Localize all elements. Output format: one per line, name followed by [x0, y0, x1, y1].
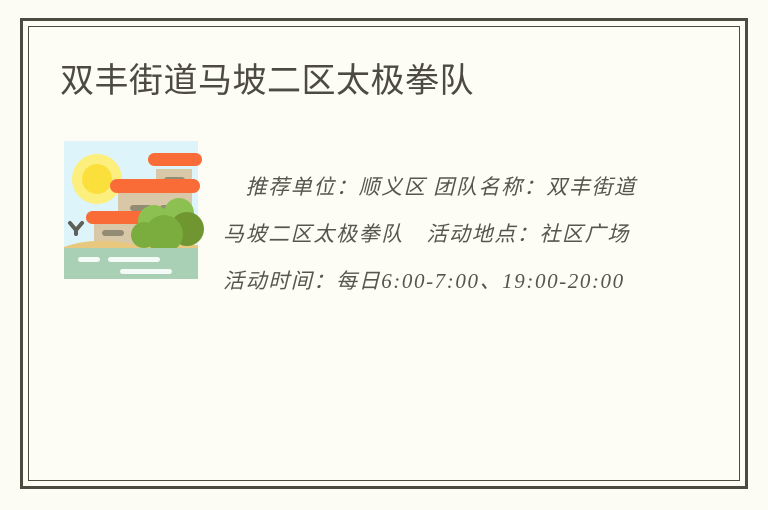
card-outer-border: 双丰街道马坡二区太极拳队: [20, 18, 748, 489]
page-root: 双丰街道马坡二区太极拳队: [0, 0, 768, 510]
card-body-text: 推荐单位：顺义区 团队名称：双丰街道马坡二区太极拳队 活动地点：社区广场 活动时…: [223, 135, 643, 305]
card-content-row: 推荐单位：顺义区 团队名称：双丰街道马坡二区太极拳队 活动地点：社区广场 活动时…: [56, 135, 719, 305]
landscape-illustration-svg: [56, 135, 206, 285]
landscape-thumbnail: [56, 135, 206, 285]
page-title: 双丰街道马坡二区太极拳队: [60, 59, 474, 103]
